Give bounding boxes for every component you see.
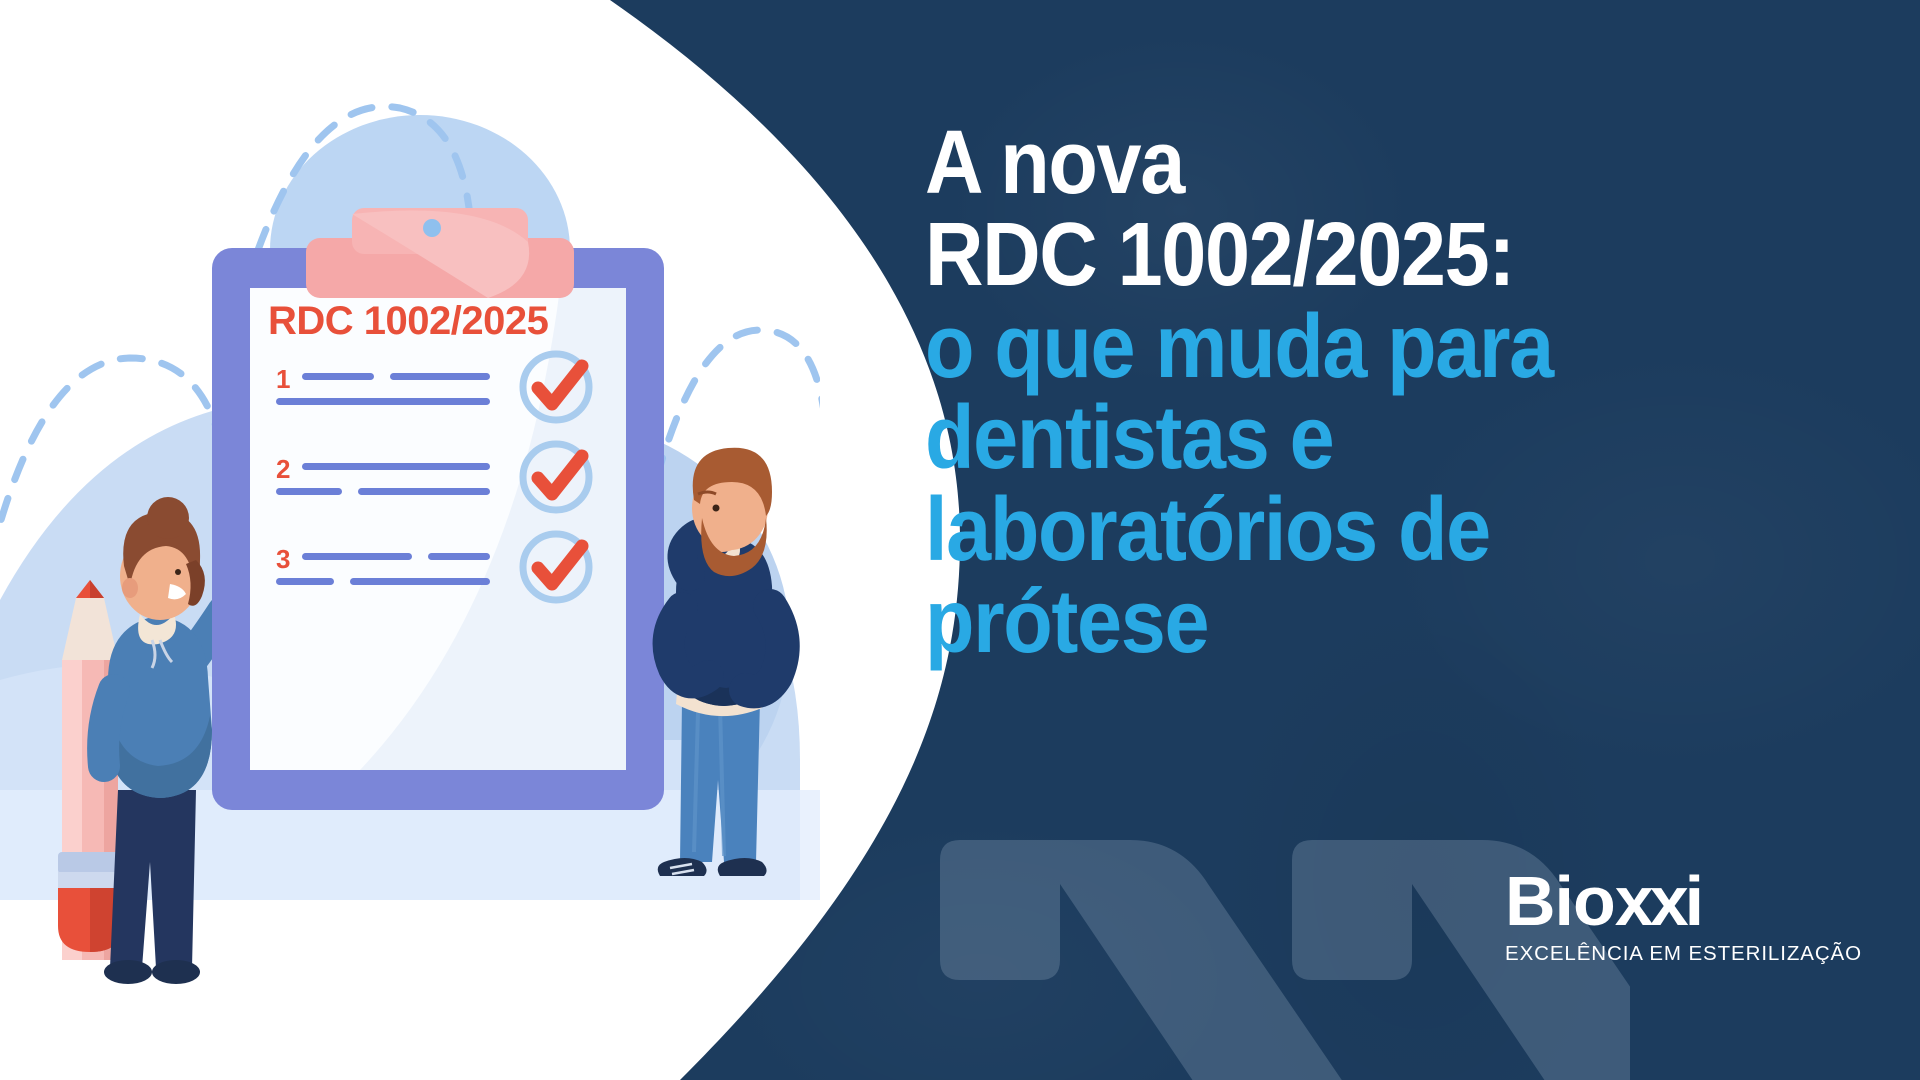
clipboard-title: RDC 1002/2025 (268, 299, 549, 343)
brand-logo-name-part1: Bio (1505, 862, 1615, 940)
headline-line-2: RDC 1002/2025: (925, 210, 1780, 302)
clipboard: RDC 1002/2025 1 2 (212, 208, 664, 810)
brand-logo-tagline: EXCELÊNCIA EM ESTERILIZAÇÃO (1505, 942, 1855, 966)
headline-line-3: o que muda para (925, 302, 1780, 394)
brand-logo: Bioxxi EXCELÊNCIA EM ESTERILIZAÇÃO (1505, 868, 1855, 966)
svg-text:1: 1 (276, 364, 290, 394)
headline: A nova RDC 1002/2025: o que muda para de… (925, 118, 1780, 669)
svg-text:2: 2 (276, 454, 290, 484)
svg-text:3: 3 (276, 544, 290, 574)
poster-canvas: RDC 1002/2025 1 2 (0, 0, 1920, 1080)
brand-logo-name-part2: xx (1615, 862, 1685, 940)
headline-line-5: laboratórios de (925, 485, 1780, 577)
headline-line-4: dentistas e (925, 393, 1780, 485)
headline-line-1: A nova (925, 118, 1780, 210)
illustration-panel: RDC 1002/2025 1 2 (0, 0, 820, 1080)
illustration-svg: RDC 1002/2025 1 2 (0, 0, 820, 1080)
headline-line-6: prótese (925, 577, 1780, 669)
brand-logo-wordmark: Bioxxi (1505, 868, 1855, 935)
brand-logo-name-part3: i (1685, 862, 1703, 940)
